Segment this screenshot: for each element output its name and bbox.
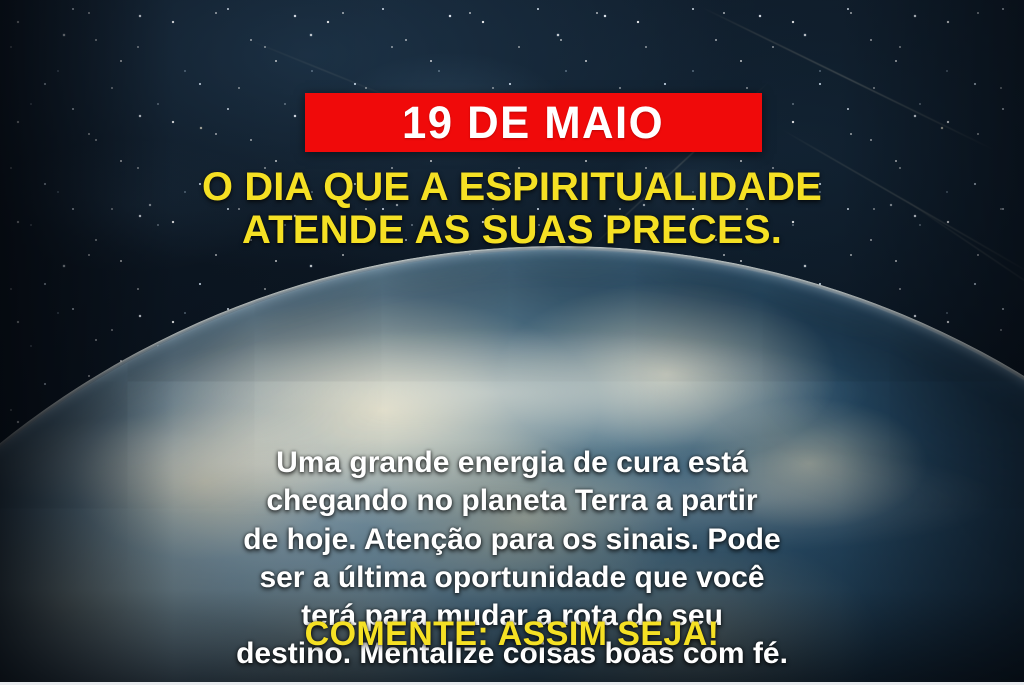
body-line-2: chegando no planeta Terra a partir: [56, 482, 968, 520]
body-line-1: Uma grande energia de cura está: [56, 444, 968, 482]
poster-content: 19 DE MAIO O DIA QUE A ESPIRITUALIDADE A…: [0, 0, 1024, 685]
date-banner-label: 19 DE MAIO: [403, 100, 665, 145]
headline-line-2: ATENDE AS SUAS PRECES.: [44, 209, 980, 252]
body-line-3: de hoje. Atenção para os sinais. Pode: [56, 521, 968, 559]
body-line-4: ser a última oportunidade que você: [56, 559, 968, 597]
date-banner: 19 DE MAIO: [305, 93, 762, 152]
poster-image: 19 DE MAIO O DIA QUE A ESPIRITUALIDADE A…: [0, 0, 1024, 685]
headline-line-1: O DIA QUE A ESPIRITUALIDADE: [46, 166, 977, 209]
call-to-action-text: COMENTE: ASSIM SEJA!: [0, 615, 1024, 654]
headline: O DIA QUE A ESPIRITUALIDADE ATENDE AS SU…: [0, 166, 1024, 252]
